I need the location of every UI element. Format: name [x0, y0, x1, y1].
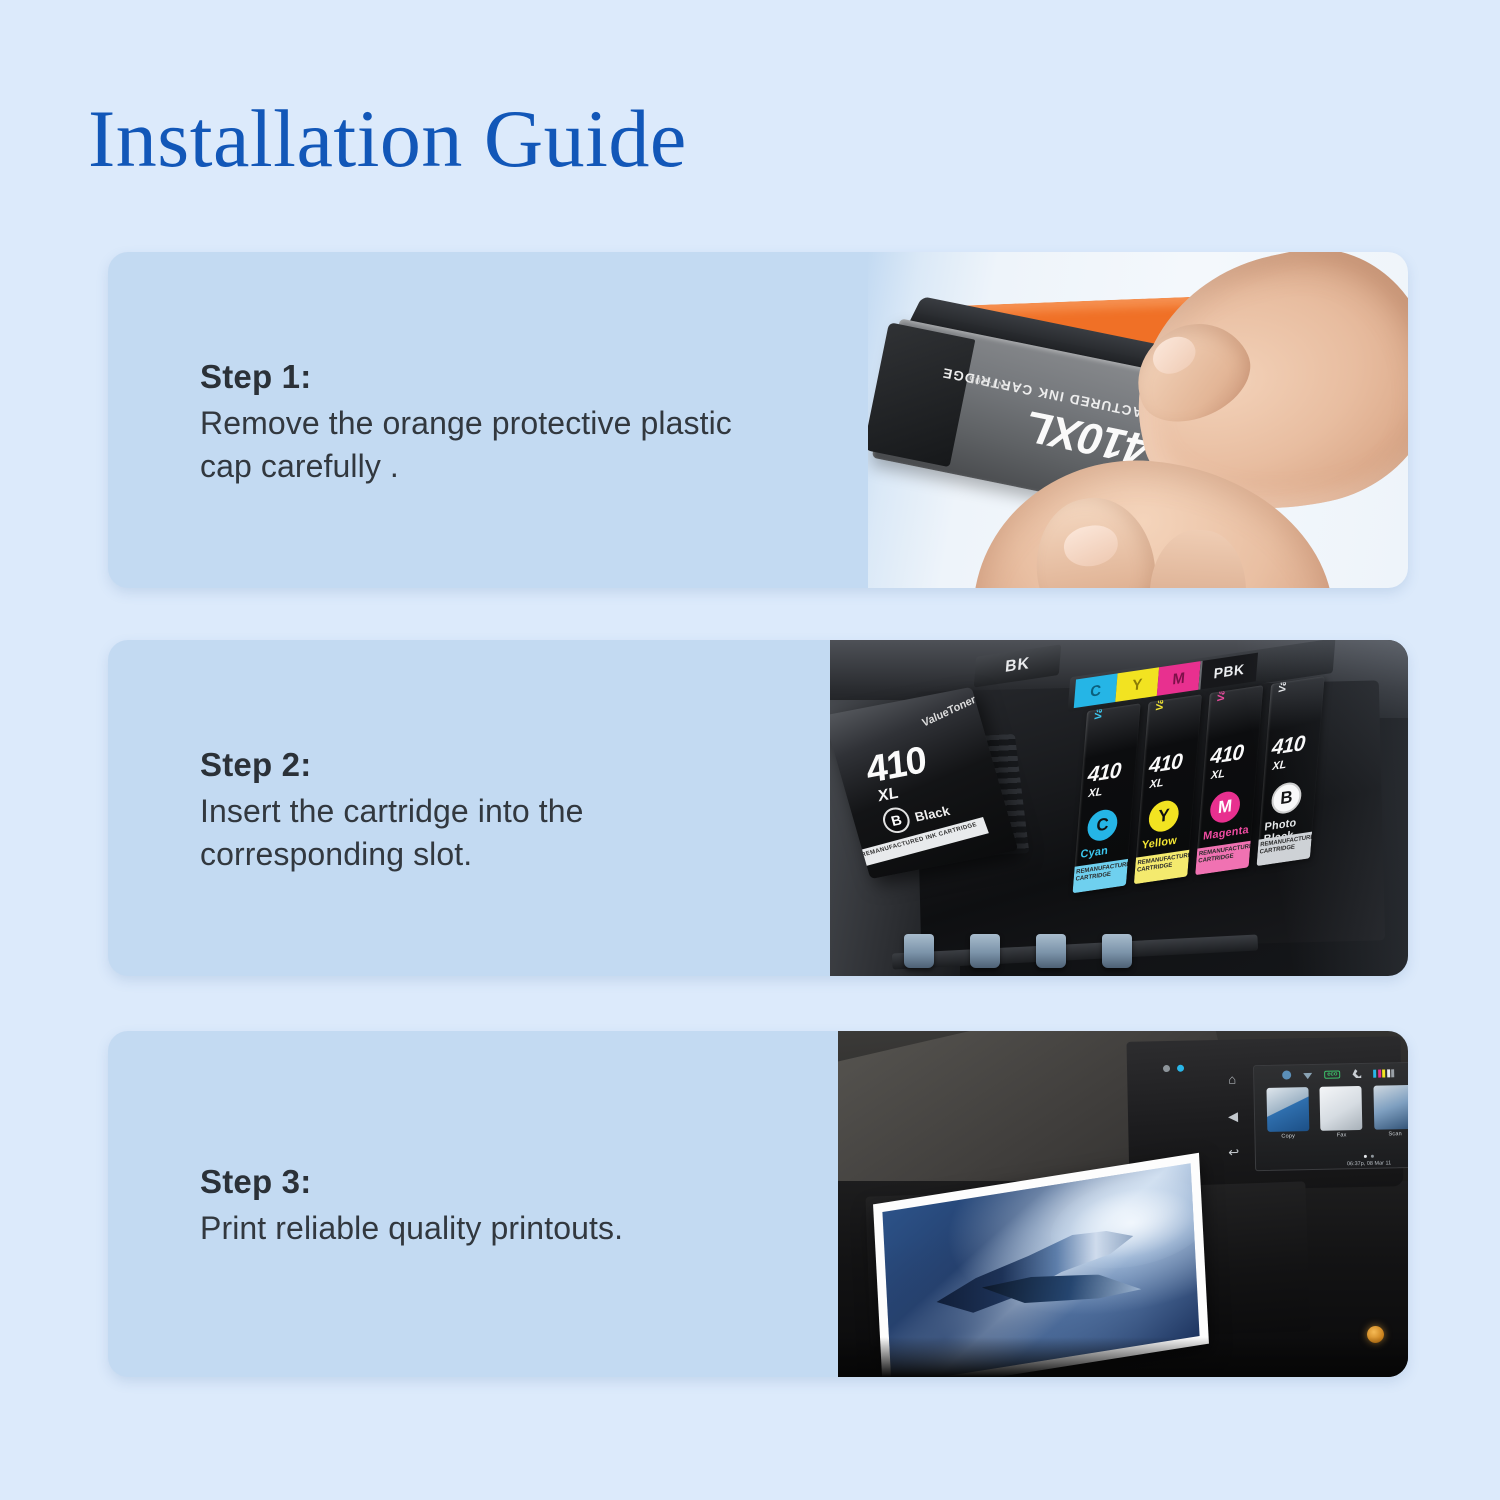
photo-highlight	[1218, 640, 1408, 976]
app-fax[interactable]: Fax	[1318, 1086, 1365, 1139]
cartridge-color-name: Cyan	[1080, 846, 1108, 862]
slot-grip-1	[904, 934, 934, 968]
step-card-3: Step 3: Print reliable quality printouts…	[108, 1031, 1408, 1377]
led-power-icon	[1177, 1065, 1184, 1072]
left-arrow-button[interactable]: ◀	[1224, 1107, 1242, 1125]
app-scan[interactable]: Scan	[1371, 1085, 1408, 1138]
slot-grip-4	[1102, 934, 1132, 968]
cartridge-xl: XL	[1088, 786, 1103, 800]
app-copy[interactable]: Copy	[1264, 1087, 1311, 1140]
step-1-text-block: Step 1: Remove the orange protective pla…	[108, 252, 868, 588]
phone-icon	[1352, 1069, 1361, 1078]
app-label: Scan	[1372, 1131, 1408, 1138]
cartridge-color-name: Yellow	[1141, 835, 1177, 852]
page-title: Installation Guide	[88, 92, 687, 186]
step-3-label: Step 3:	[200, 1157, 838, 1207]
cartridge-bottom-strip: REMANUFACTURED CARTRIDGE	[1073, 859, 1129, 893]
cartridge-color-badge: B	[880, 805, 913, 835]
cartridge-xl: XL	[876, 785, 901, 806]
step-2-description: Insert the cartridge into the correspond…	[200, 790, 760, 876]
step-card-2: Step 2: Insert the cartridge into the co…	[108, 640, 1408, 976]
slot-grip-2	[970, 934, 1000, 968]
slot-label-y: Y	[1115, 667, 1159, 702]
printer-touchscreen[interactable]: eco Copy Fax	[1253, 1060, 1408, 1171]
eco-badge: eco	[1324, 1070, 1341, 1078]
cartridge-cyan: ValueToner 410 XL C Cyan REMANUFACTURED …	[1073, 703, 1141, 893]
photo-bottom-shade	[838, 1337, 1408, 1377]
slot-label-c: C	[1074, 673, 1118, 708]
printer-printout-photo: ⌂ ◀ ↩ ▶ ? ✕ eco	[838, 1031, 1408, 1377]
slot-grip-3	[1036, 934, 1066, 968]
back-button[interactable]: ↩	[1225, 1143, 1243, 1161]
cartridge-bottom-strip: REMANUFACTURED CARTRIDGE	[1134, 850, 1190, 884]
step-2-text-block: Step 2: Insert the cartridge into the co…	[108, 640, 830, 976]
screen-page-dots	[1256, 1152, 1408, 1160]
wifi-icon	[1303, 1070, 1312, 1079]
step-2-label: Step 2:	[200, 740, 830, 790]
cartridge-color-badge: Y	[1148, 799, 1180, 834]
step-card-1: Step 1: Remove the orange protective pla…	[108, 252, 1408, 588]
slot-label-m: M	[1157, 661, 1201, 696]
step-1-label: Step 1:	[200, 352, 868, 402]
cartridge-xl: XL	[1149, 777, 1164, 791]
panel-indicator-leds	[1163, 1065, 1184, 1072]
screen-timestamp: 06:37p, 08 Mar 11	[1256, 1158, 1408, 1169]
screen-status-bar: eco	[1254, 1063, 1408, 1083]
ink-level-icon	[1373, 1069, 1394, 1077]
step-1-description: Remove the orange protective plastic cap…	[200, 402, 760, 488]
cartridge-brand: ValueToner	[920, 694, 979, 729]
step-3-text-block: Step 3: Print reliable quality printouts…	[108, 1031, 838, 1377]
scan-icon	[1373, 1085, 1408, 1130]
cartridge-bottom-strip: REMANUFACTURED INK CARTRIDGE	[856, 817, 989, 867]
cloud-icon	[1282, 1070, 1291, 1079]
led-wifi-icon	[1163, 1065, 1170, 1072]
cartridge-color-badge: C	[1086, 808, 1118, 843]
cartridge-number: 410	[1087, 759, 1122, 788]
cartridge-cap-removal-photo: ValueToner B 410XL REMANUFACTURED INK CA…	[868, 252, 1408, 588]
screen-app-row: Copy Fax Scan Apps	[1260, 1084, 1408, 1140]
installation-guide-page: Installation Guide Step 1: Remove the or…	[0, 0, 1500, 1500]
app-label: Fax	[1319, 1132, 1365, 1139]
fax-icon	[1320, 1086, 1363, 1131]
cartridge-color-name: Black	[913, 803, 951, 824]
printer-carriage-photo: BK C Y M PBK ValueToner 410 XL C Cyan RE…	[830, 640, 1408, 976]
home-button[interactable]: ⌂	[1223, 1069, 1241, 1087]
cartridge-yellow: ValueToner 410 XL Y Yellow REMANUFACTURE…	[1134, 694, 1202, 884]
cartridge-number: 410	[1148, 750, 1183, 779]
copy-icon	[1266, 1087, 1309, 1132]
step-3-description: Print reliable quality printouts.	[200, 1207, 760, 1250]
app-label: Copy	[1265, 1133, 1311, 1140]
